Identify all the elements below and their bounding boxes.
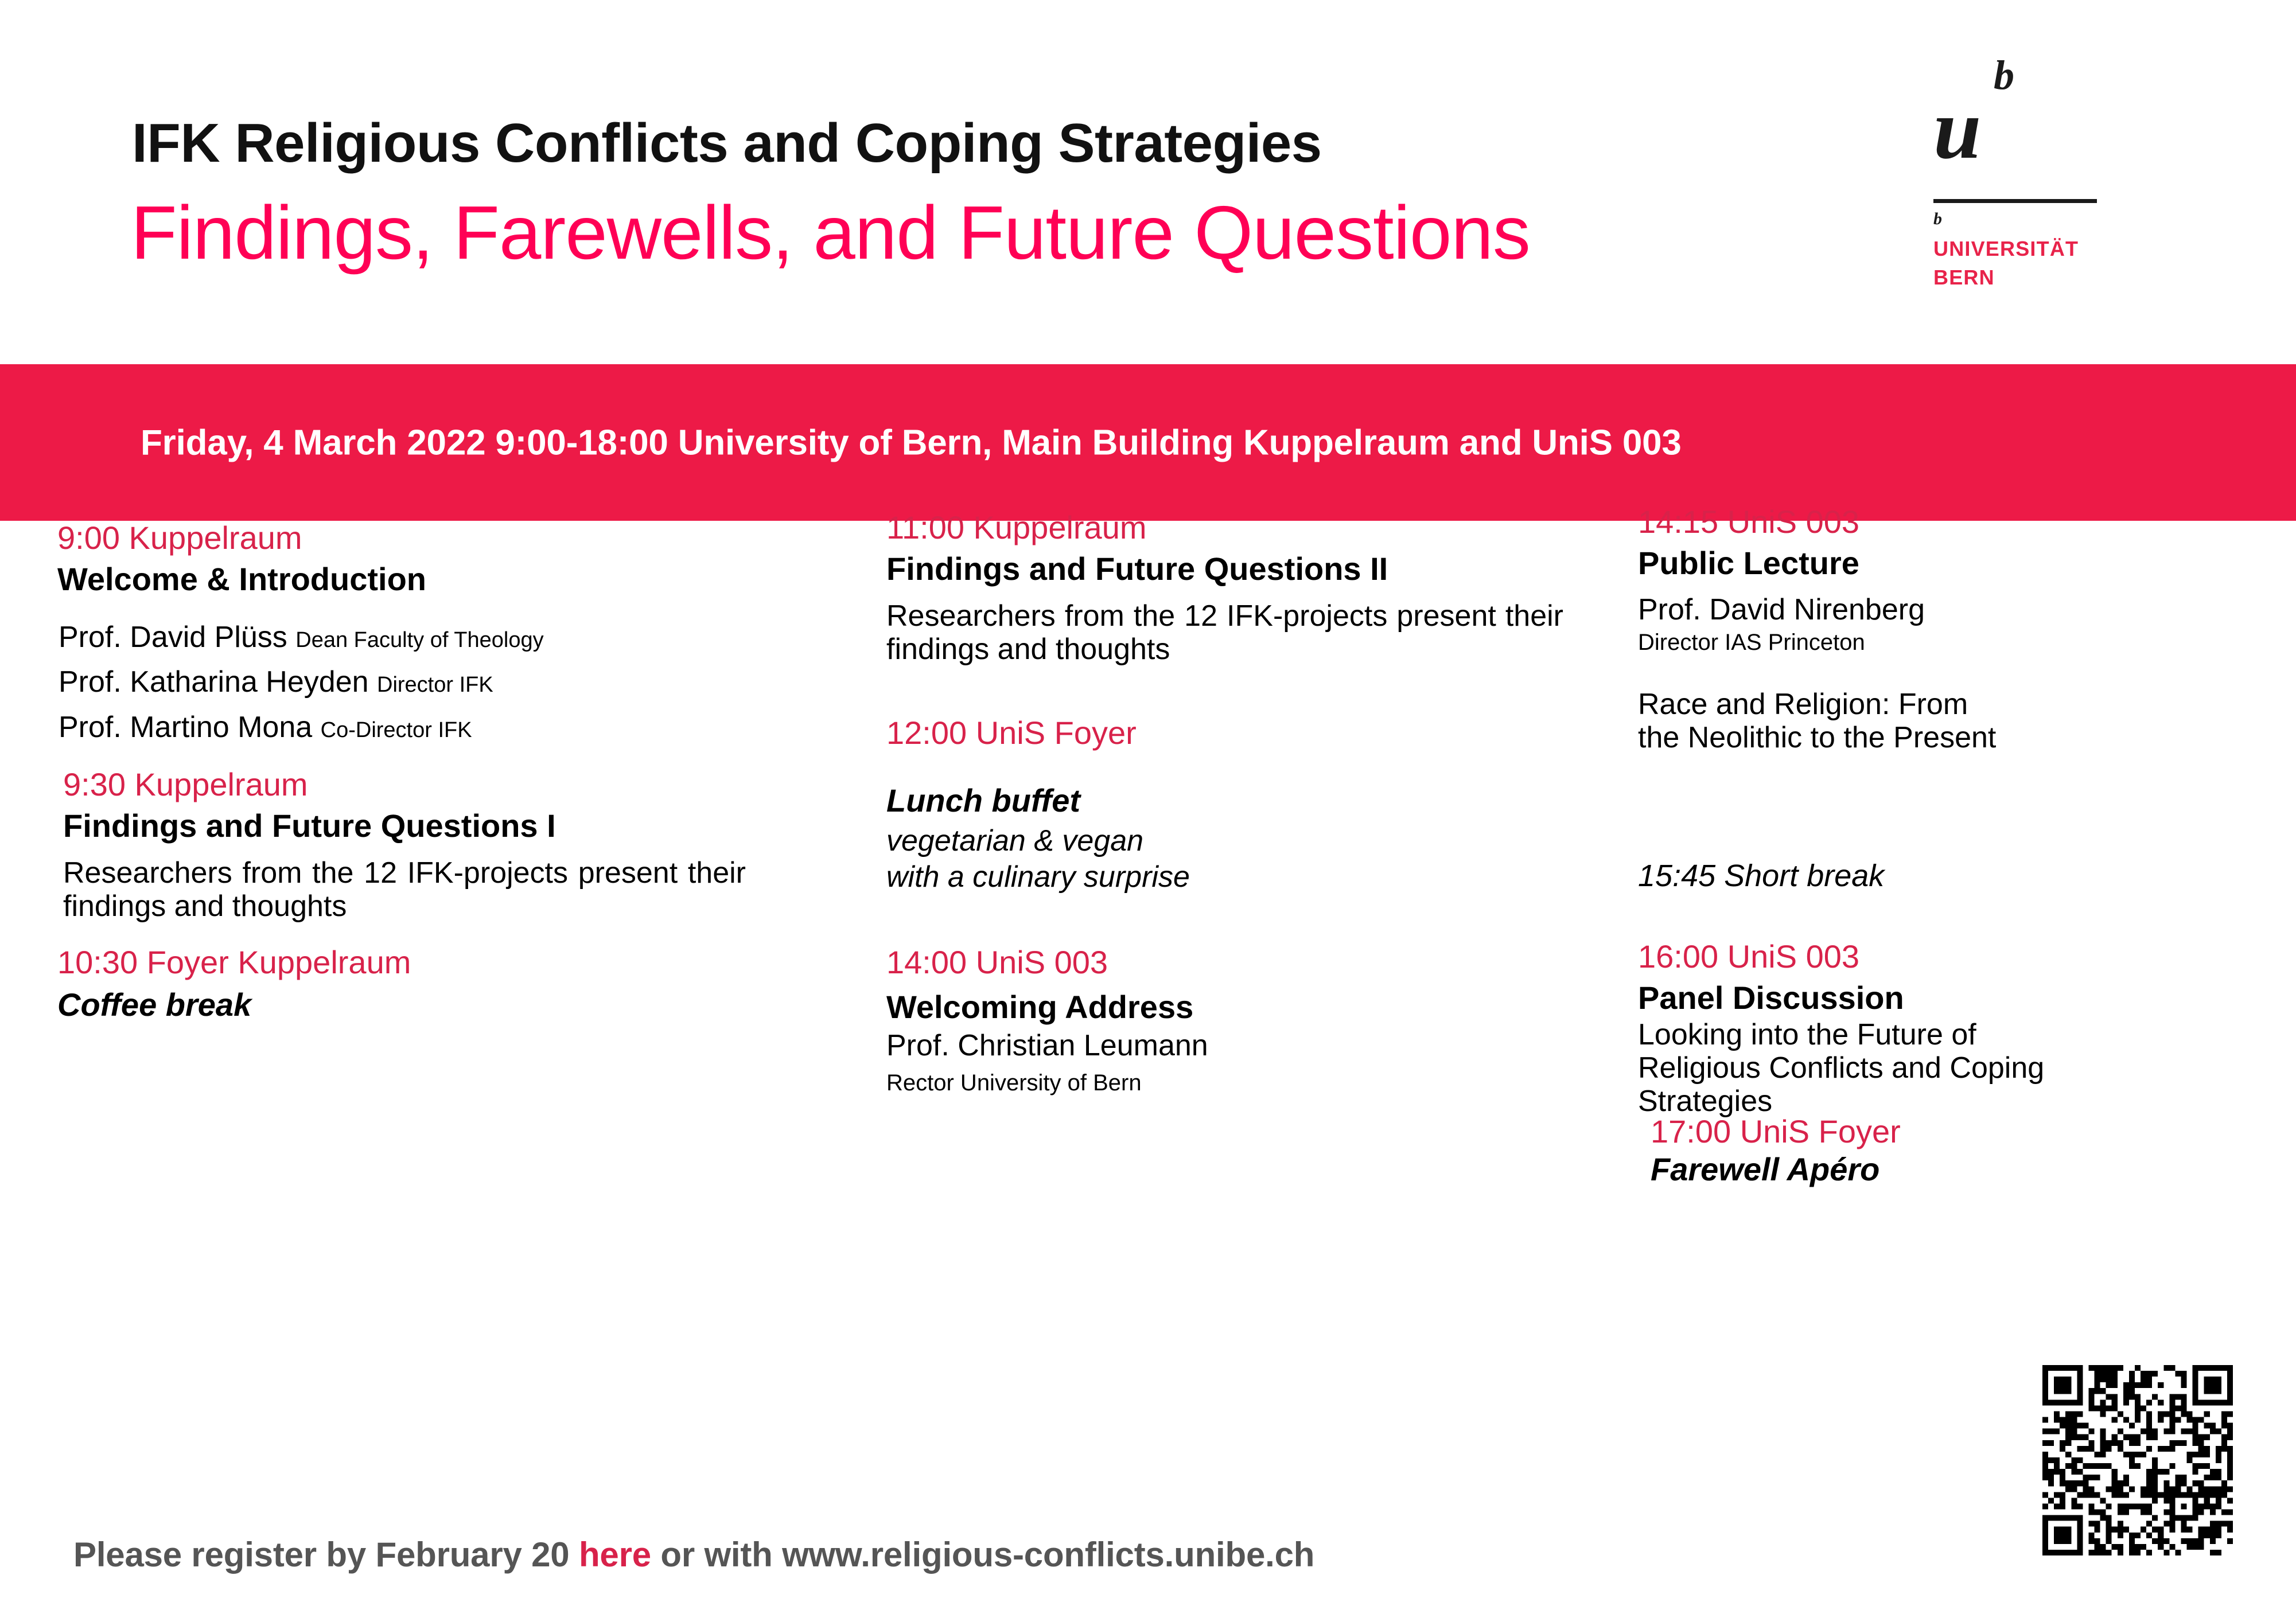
speaker-name: Prof. David Plüss xyxy=(59,621,287,654)
session-1415-speaker-name: Prof. David Nirenberg xyxy=(1638,594,2246,626)
session-1400-speaker-role: Rector University of Bern xyxy=(886,1070,1592,1096)
session-1700-title: Farewell Apéro xyxy=(1651,1152,2259,1187)
session-1200-title: Lunch buffet xyxy=(886,783,1592,818)
logo-b-small: b xyxy=(1933,210,1942,228)
speaker-name: Prof. Katharina Heyden xyxy=(59,665,369,699)
session-1600-body-line2: Religious Conflicts and Coping xyxy=(1638,1051,2246,1085)
speaker-role: Co-Director IFK xyxy=(321,718,472,742)
short-break-1545: 15:45 Short break xyxy=(1638,859,1884,893)
session-1415-speaker-role: Director IAS Princeton xyxy=(1638,630,2246,656)
session-1100-time: 11:00 Kuppelraum xyxy=(886,510,1592,545)
session-1100: 11:00 Kuppelraum Findings and Future Que… xyxy=(886,510,1592,666)
speaker-item: Prof. David Plüss Dean Faculty of Theolo… xyxy=(59,621,544,654)
session-1400-time: 14:00 UniS 003 xyxy=(886,945,1592,980)
session-1600-title: Panel Discussion xyxy=(1638,981,2246,1015)
logo-bern-text: BERN xyxy=(1933,266,1995,290)
session-1030-title: Coffee break xyxy=(57,988,849,1022)
session-0900-title: Welcome & Introduction xyxy=(57,562,849,596)
session-1200: 12:00 UniS Foyer Lunch buffet vegetarian… xyxy=(886,716,1592,896)
session-1030: 10:30 Foyer Kuppelraum Coffee break xyxy=(57,945,849,1023)
session-1200-body-line1: vegetarian & vegan xyxy=(886,823,1592,859)
date-location-banner: Friday, 4 March 2022 9:00-18:00 Universi… xyxy=(0,364,2296,521)
session-1400-speaker-name: Prof. Christian Leumann xyxy=(886,1030,1592,1062)
session-1100-title: Findings and Future Questions II xyxy=(886,552,1592,586)
event-main-title: Findings, Farewells, and Future Question… xyxy=(131,189,1530,276)
session-1100-body: Researchers from the 12 IFK-projects pre… xyxy=(886,599,1563,666)
session-1400: 14:00 UniS 003 Welcoming Address Prof. C… xyxy=(886,945,1592,1096)
session-1700: 17:00 UniS Foyer Farewell Apéro xyxy=(1638,1114,2259,1187)
session-1600: 16:00 UniS 003 Panel Discussion Looking … xyxy=(1638,939,2246,1118)
session-1200-body-line2: with a culinary surprise xyxy=(886,859,1592,895)
logo-u-letter: u xyxy=(1933,86,1981,172)
logo-b-superscript: b xyxy=(1994,54,2014,96)
session-1200-time: 12:00 UniS Foyer xyxy=(886,716,1592,750)
speaker-role: Dean Faculty of Theology xyxy=(295,628,543,652)
session-1415-title: Public Lecture xyxy=(1638,546,2246,580)
logo-divider-rule xyxy=(1933,199,2097,203)
register-suffix-text: or with www.religious-conflicts.unibe.ch xyxy=(651,1535,1314,1574)
poster-header: IFK Religious Conflicts and Coping Strat… xyxy=(0,0,2296,364)
speaker-item: Prof. Martino Mona Co-Director IFK xyxy=(59,711,472,744)
session-1600-body-line1: Looking into the Future of xyxy=(1638,1018,2246,1051)
session-1415-lecture-title-line2: the Neolithic to the Present xyxy=(1638,721,2246,754)
session-1415-lecture-title-line1: Race and Religion: From xyxy=(1638,688,2246,721)
session-1400-title: Welcoming Address xyxy=(886,990,1592,1024)
session-0930-title: Findings and Future Questions I xyxy=(63,809,855,843)
event-series-title: IFK Religious Conflicts and Coping Strat… xyxy=(132,112,1322,175)
session-1030-time: 10:30 Foyer Kuppelraum xyxy=(57,945,849,980)
session-1415-time: 14:15 UniS 003 xyxy=(1638,505,2246,539)
speaker-name: Prof. Martino Mona xyxy=(59,711,312,744)
program-grid: 9:00 Kuppelraum Welcome & Introduction P… xyxy=(0,521,2296,1519)
session-0930-body: Researchers from the 12 IFK-projects pre… xyxy=(63,856,746,923)
session-0900-time: 9:00 Kuppelraum xyxy=(57,521,849,555)
register-here-link[interactable]: here xyxy=(579,1535,651,1574)
session-1600-time: 16:00 UniS 003 xyxy=(1638,939,2246,974)
session-1415: 14:15 UniS 003 Public Lecture Prof. Davi… xyxy=(1638,505,2246,754)
session-0900: 9:00 Kuppelraum Welcome & Introduction xyxy=(57,521,849,597)
registration-footer: Please register by February 20 here or w… xyxy=(73,1535,1314,1574)
session-1700-time: 17:00 UniS Foyer xyxy=(1651,1114,2259,1149)
speaker-role: Director IFK xyxy=(377,673,493,697)
speaker-item: Prof. Katharina Heyden Director IFK xyxy=(59,666,493,699)
university-of-bern-logo: u b b UNIVERSITÄT BERN xyxy=(1933,54,2128,301)
date-location-text: Friday, 4 March 2022 9:00-18:00 Universi… xyxy=(141,422,1682,463)
session-0930: 9:30 Kuppelraum Findings and Future Ques… xyxy=(57,767,855,923)
logo-universitaet-text: UNIVERSITÄT xyxy=(1933,237,2079,261)
qr-code-registration[interactable] xyxy=(2042,1365,2233,1555)
register-prefix-text: Please register by February 20 xyxy=(73,1535,579,1574)
session-0930-time: 9:30 Kuppelraum xyxy=(63,767,855,802)
